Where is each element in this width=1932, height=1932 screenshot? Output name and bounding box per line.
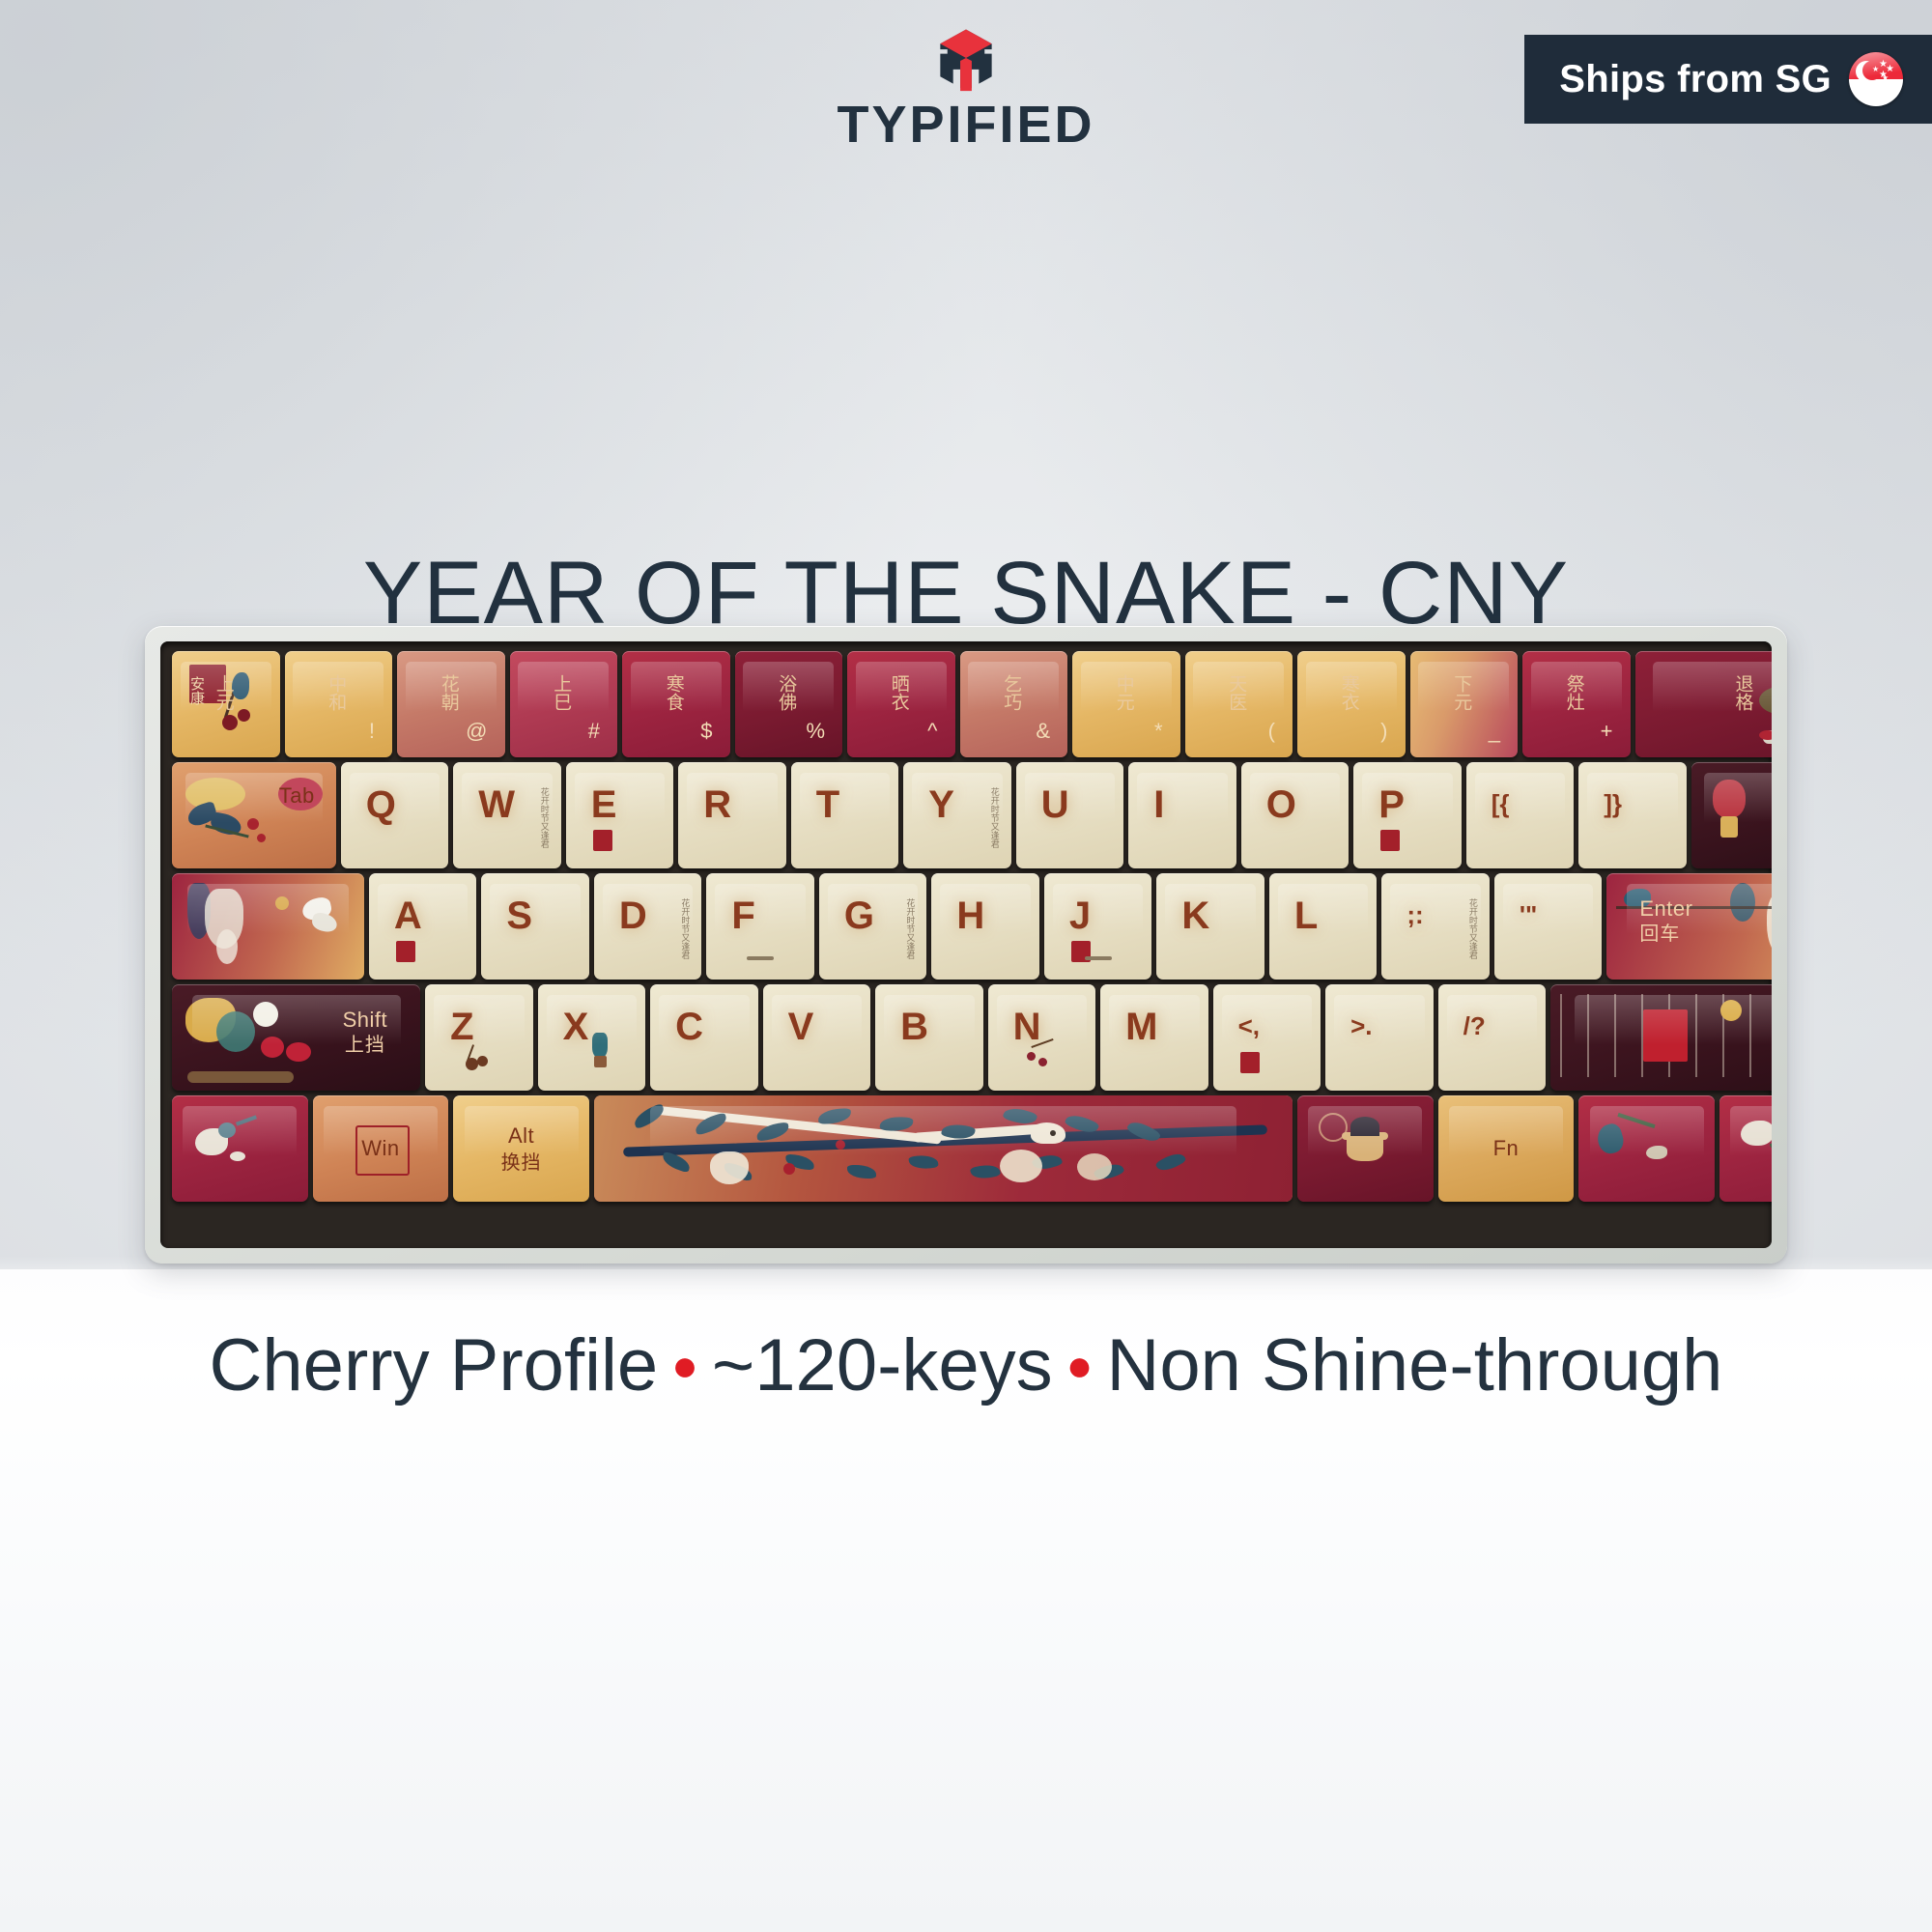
- key-symbol-legend: !: [369, 721, 375, 742]
- key-legend: Y花开时节又逢君: [903, 762, 1011, 868]
- key-rctrl[interactable]: [1578, 1095, 1715, 1202]
- key-4[interactable]: 寒食$: [622, 651, 730, 757]
- key-rbracket[interactable]: ]}: [1578, 762, 1687, 868]
- key-legend: [172, 873, 364, 980]
- key-symbol-legend: @: [466, 721, 487, 742]
- key-symbol-legend: #: [588, 721, 600, 742]
- key-letter-legend: [{: [1492, 791, 1510, 816]
- key-letter-legend: N: [1013, 1008, 1041, 1046]
- key-lctrl[interactable]: [172, 1095, 308, 1202]
- key-letter-legend: D: [619, 896, 647, 935]
- key-legend: 退格: [1635, 651, 1773, 757]
- key-legend: [172, 1095, 308, 1202]
- key-w[interactable]: W花开时节又逢君: [453, 762, 561, 868]
- key-legend: 浴佛%: [735, 651, 843, 757]
- key-letter-legend: W: [478, 785, 515, 824]
- key-legend: [594, 1095, 1293, 1202]
- key-legend: 寒食$: [622, 651, 730, 757]
- key-letter-legend: >.: [1350, 1013, 1372, 1038]
- key-legend: >.: [1325, 984, 1434, 1091]
- key-letter-legend: ;:: [1406, 902, 1423, 927]
- key-cn-legend: 天医: [1227, 674, 1246, 711]
- key-legend: W花开时节又逢君: [453, 762, 561, 868]
- key-cn-legend: 中元: [1115, 674, 1134, 711]
- key-letter-legend: R: [703, 785, 731, 824]
- key-z[interactable]: Z: [425, 984, 533, 1091]
- homing-bump: [1085, 956, 1112, 960]
- key-legend: Tab: [172, 762, 336, 868]
- cube-logo-icon: [930, 25, 1002, 97]
- key-letter-legend: H: [956, 896, 984, 935]
- key-rshift[interactable]: [1550, 984, 1772, 1091]
- key-legend: 中元*: [1072, 651, 1180, 757]
- key-symbol-legend: _: [1489, 721, 1500, 742]
- key-o[interactable]: O: [1241, 762, 1350, 868]
- singapore-flag-icon: ★ ★ ★ ★ ★: [1849, 52, 1903, 106]
- key-letter-legend: B: [900, 1008, 928, 1046]
- key-5[interactable]: 浴佛%: [735, 651, 843, 757]
- key-symbol-legend: (: [1268, 721, 1275, 742]
- key-legend: [1691, 762, 1772, 868]
- key-q[interactable]: Q: [341, 762, 449, 868]
- key-legend: I: [1128, 762, 1236, 868]
- key-slash[interactable]: /?: [1438, 984, 1547, 1091]
- key-letter-legend: J: [1069, 896, 1091, 935]
- key-lbracket[interactable]: [{: [1466, 762, 1575, 868]
- key-legend: 天医(: [1185, 651, 1293, 757]
- homing-bump: [747, 956, 774, 960]
- spec-separator-1: ●: [671, 1340, 698, 1390]
- key-legend: C: [650, 984, 758, 1091]
- key-legend: 下元_: [1410, 651, 1519, 757]
- keyboard-row-shift-row: Shift上挡ZXCVBNM<,>./?: [172, 984, 1760, 1091]
- key-legend: X: [538, 984, 646, 1091]
- key-letter-legend: V: [788, 1008, 814, 1046]
- spec-shinethrough: Non Shine-through: [1106, 1324, 1722, 1406]
- key-fn[interactable]: Fn: [1438, 1095, 1575, 1202]
- key-en-legend: Shift: [343, 1009, 388, 1031]
- key-legend: [1550, 984, 1772, 1091]
- key-legend: Enter回车: [1606, 873, 1772, 980]
- key-legend: 中和!: [285, 651, 393, 757]
- key-legend: F: [706, 873, 814, 980]
- red-seal-icon: [1380, 830, 1400, 851]
- keyboard-plate: 上元安康中和!花朝@上巳#寒食$浴佛%晒衣^乞巧&中元*天医(寒衣)下元_祭灶+…: [160, 641, 1772, 1248]
- key-backspace[interactable]: 退格: [1635, 651, 1773, 757]
- key-legend: Q: [341, 762, 449, 868]
- key-en-legend: Alt: [508, 1125, 534, 1147]
- key-period[interactable]: >.: [1325, 984, 1434, 1091]
- key-legend: 晒衣^: [847, 651, 955, 757]
- key-legend: 乞巧&: [960, 651, 1068, 757]
- keyboard-row-bottom-row: WinAlt换挡Fn: [172, 1095, 1760, 1202]
- key-legend: 祭灶+: [1522, 651, 1631, 757]
- key-legend: ]}: [1578, 762, 1687, 868]
- key-semicolon[interactable]: ;:花开时节又逢君: [1381, 873, 1490, 980]
- ships-from-label: Ships from SG: [1559, 58, 1832, 101]
- key-g[interactable]: G花开时节又逢君: [819, 873, 927, 980]
- spec-profile: Cherry Profile: [210, 1324, 659, 1406]
- key-letter-legend: X: [563, 1008, 589, 1046]
- key-legend: H: [931, 873, 1039, 980]
- key-7[interactable]: 乞巧&: [960, 651, 1068, 757]
- key-legend: 花朝@: [397, 651, 505, 757]
- key-legend: M: [1100, 984, 1208, 1091]
- key-cn-legend: 寒食: [665, 674, 684, 711]
- key-h[interactable]: H: [931, 873, 1039, 980]
- key-3[interactable]: 上巳#: [510, 651, 618, 757]
- key-legend: [1719, 1095, 1772, 1202]
- product-image-canvas: TYPIFIED Ships from SG ★ ★ ★ ★ ★ YEAR OF…: [0, 0, 1932, 1932]
- key-c[interactable]: C: [650, 984, 758, 1091]
- key-en-legend: Enter: [1639, 898, 1692, 920]
- key-cn-legend: 上元: [214, 674, 234, 711]
- key-6[interactable]: 晒衣^: [847, 651, 955, 757]
- key-legend: E: [566, 762, 674, 868]
- key-legend: [1297, 1095, 1434, 1202]
- key-t[interactable]: T: [791, 762, 899, 868]
- key-backslash[interactable]: [1691, 762, 1772, 868]
- key-poem-text: 花开时节又逢君: [539, 787, 548, 848]
- key-legend: Shift上挡: [172, 984, 420, 1091]
- key-letter-legend: <,: [1238, 1013, 1260, 1038]
- key-j[interactable]: J: [1044, 873, 1152, 980]
- key-legend: <,: [1213, 984, 1321, 1091]
- keyboard-product-photo: 上元安康中和!花朝@上巳#寒食$浴佛%晒衣^乞巧&中元*天医(寒衣)下元_祭灶+…: [145, 626, 1787, 1264]
- key-legend: 上元安康: [172, 651, 280, 757]
- key-cn-legend: 上挡: [345, 1035, 385, 1054]
- key-l[interactable]: L: [1269, 873, 1378, 980]
- key-legend: G花开时节又逢君: [819, 873, 927, 980]
- key-esc[interactable]: 上元安康: [172, 651, 280, 757]
- key-letter-legend: '": [1520, 902, 1538, 927]
- keyboard-row-number-row: 上元安康中和!花朝@上巳#寒食$浴佛%晒衣^乞巧&中元*天医(寒衣)下元_祭灶+…: [172, 651, 1760, 757]
- key-legend: O: [1241, 762, 1350, 868]
- key-x[interactable]: X: [538, 984, 646, 1091]
- key-en-legend: Fn: [1493, 1138, 1520, 1159]
- key-legend: Alt换挡: [453, 1095, 589, 1202]
- key-poem-text: 花开时节又逢君: [1467, 898, 1476, 959]
- key-letter-legend: P: [1378, 785, 1405, 824]
- key-legend: N: [988, 984, 1096, 1091]
- key-u[interactable]: U: [1016, 762, 1124, 868]
- red-seal-icon: [396, 941, 415, 962]
- key-menu[interactable]: [1719, 1095, 1772, 1202]
- key-r[interactable]: R: [678, 762, 786, 868]
- key-cn-legend: 回车: [1639, 923, 1680, 943]
- key-symbol-legend: &: [1036, 721, 1050, 742]
- key-cn-legend: 换挡: [501, 1152, 542, 1172]
- key-2[interactable]: 花朝@: [397, 651, 505, 757]
- key-symbol-legend: ^: [927, 721, 937, 742]
- key-letter-legend: ]}: [1604, 791, 1622, 816]
- key-f[interactable]: F: [706, 873, 814, 980]
- key-symbol-legend: $: [700, 721, 712, 742]
- key-comma[interactable]: <,: [1213, 984, 1321, 1091]
- key-y[interactable]: Y花开时节又逢君: [903, 762, 1011, 868]
- key-d[interactable]: D花开时节又逢君: [594, 873, 702, 980]
- key-legend: [{: [1466, 762, 1575, 868]
- key-legend: [1578, 1095, 1715, 1202]
- key-legend: 寒衣): [1297, 651, 1406, 757]
- key-p[interactable]: P: [1353, 762, 1462, 868]
- key-symbol-legend: +: [1601, 721, 1613, 742]
- key-letter-legend: F: [731, 896, 754, 935]
- key-lalt[interactable]: Alt换挡: [453, 1095, 589, 1202]
- key-letter-legend: Q: [366, 785, 396, 824]
- key-symbol-legend: ): [1380, 721, 1387, 742]
- key-letter-legend: /?: [1463, 1013, 1486, 1038]
- key-s[interactable]: S: [481, 873, 589, 980]
- key-legend: ;:花开时节又逢君: [1381, 873, 1490, 980]
- key-legend: 上巳#: [510, 651, 618, 757]
- key-letter-legend: K: [1181, 896, 1209, 935]
- key-letter-legend: G: [844, 896, 874, 935]
- key-symbol-legend: %: [806, 721, 825, 742]
- key-legend: Fn: [1438, 1095, 1575, 1202]
- key-legend: U: [1016, 762, 1124, 868]
- key-cn-legend: 浴佛: [777, 674, 796, 711]
- key-letter-legend: E: [591, 785, 617, 824]
- key-cn-legend: 花朝: [440, 674, 459, 711]
- spec-keycount: ~120-keys: [712, 1324, 1053, 1406]
- key-cn-legend: 中和: [327, 674, 346, 711]
- key-m[interactable]: M: [1100, 984, 1208, 1091]
- keyboard-row-qwerty-row: TabQW花开时节又逢君ERTY花开时节又逢君UIOP[{]}: [172, 762, 1760, 868]
- key-enter[interactable]: Enter回车: [1606, 873, 1772, 980]
- key-letter-legend: M: [1125, 1008, 1157, 1046]
- key-cn-legend: 祭灶: [1565, 674, 1584, 711]
- key-space[interactable]: [594, 1095, 1293, 1202]
- key-cn-legend-secondary: 安康: [187, 676, 207, 705]
- key-legend: /?: [1438, 984, 1547, 1091]
- key-lwin[interactable]: Win: [313, 1095, 449, 1202]
- key-capslock[interactable]: [172, 873, 364, 980]
- key-legend: B: [875, 984, 983, 1091]
- key-minus[interactable]: 下元_: [1410, 651, 1519, 757]
- key-letter-legend: O: [1266, 785, 1296, 824]
- key-i[interactable]: I: [1128, 762, 1236, 868]
- key-9[interactable]: 天医(: [1185, 651, 1293, 757]
- key-legend: P: [1353, 762, 1462, 868]
- key-quote[interactable]: '": [1494, 873, 1603, 980]
- key-symbol-legend: *: [1154, 721, 1163, 742]
- ships-from-badge: Ships from SG ★ ★ ★ ★ ★: [1524, 35, 1932, 124]
- key-legend: '": [1494, 873, 1603, 980]
- key-poem-text: 花开时节又逢君: [904, 898, 913, 959]
- key-letter-legend: Z: [450, 1008, 473, 1046]
- key-1[interactable]: 中和!: [285, 651, 393, 757]
- key-n[interactable]: N: [988, 984, 1096, 1091]
- key-letter-legend: I: [1153, 785, 1164, 824]
- key-letter-legend: L: [1294, 896, 1318, 935]
- key-legend: D花开时节又逢君: [594, 873, 702, 980]
- keyboard-row-home-row: ASD花开时节又逢君FG花开时节又逢君HJKL;:花开时节又逢君'"Enter回…: [172, 873, 1760, 980]
- key-cn-legend: 上巳: [552, 674, 571, 711]
- key-0[interactable]: 寒衣): [1297, 651, 1406, 757]
- key-8[interactable]: 中元*: [1072, 651, 1180, 757]
- key-equal[interactable]: 祭灶+: [1522, 651, 1631, 757]
- key-b[interactable]: B: [875, 984, 983, 1091]
- key-legend: L: [1269, 873, 1378, 980]
- key-cn-legend: 退格: [1734, 674, 1753, 711]
- key-legend: Win: [313, 1095, 449, 1202]
- key-k[interactable]: K: [1156, 873, 1264, 980]
- red-seal-icon: [1240, 1052, 1260, 1073]
- key-legend: T: [791, 762, 899, 868]
- key-lshift[interactable]: Shift上挡: [172, 984, 420, 1091]
- spec-separator-2: ●: [1066, 1340, 1094, 1390]
- key-legend: K: [1156, 873, 1264, 980]
- key-cn-legend: 晒衣: [890, 674, 909, 711]
- key-letter-legend: A: [394, 896, 422, 935]
- key-letter-legend: U: [1041, 785, 1069, 824]
- key-poem-text: 花开时节又逢君: [989, 787, 998, 848]
- key-legend: V: [763, 984, 871, 1091]
- key-legend: A: [369, 873, 477, 980]
- key-legend: J: [1044, 873, 1152, 980]
- key-ralt[interactable]: [1297, 1095, 1434, 1202]
- key-poem-text: 花开时节又逢君: [679, 898, 688, 959]
- key-en-legend: Win: [361, 1138, 399, 1159]
- key-legend: R: [678, 762, 786, 868]
- key-letter-legend: S: [506, 896, 532, 935]
- key-cn-legend: 寒衣: [1340, 674, 1359, 711]
- key-v[interactable]: V: [763, 984, 871, 1091]
- key-tab[interactable]: Tab: [172, 762, 336, 868]
- key-legend: Z: [425, 984, 533, 1091]
- key-e[interactable]: E: [566, 762, 674, 868]
- key-legend: S: [481, 873, 589, 980]
- key-letter-legend: T: [816, 785, 839, 824]
- key-letter-legend: Y: [928, 785, 954, 824]
- key-letter-legend: C: [675, 1008, 703, 1046]
- key-cn-legend: 乞巧: [1002, 674, 1021, 711]
- brand-wordmark: TYPIFIED: [837, 99, 1094, 151]
- key-a[interactable]: A: [369, 873, 477, 980]
- key-en-legend: Tab: [279, 785, 315, 807]
- key-cn-legend: 下元: [1452, 674, 1471, 711]
- red-seal-icon: [593, 830, 612, 851]
- product-specs-caption: Cherry Profile●~120-keys●Non Shine-throu…: [0, 1323, 1932, 1407]
